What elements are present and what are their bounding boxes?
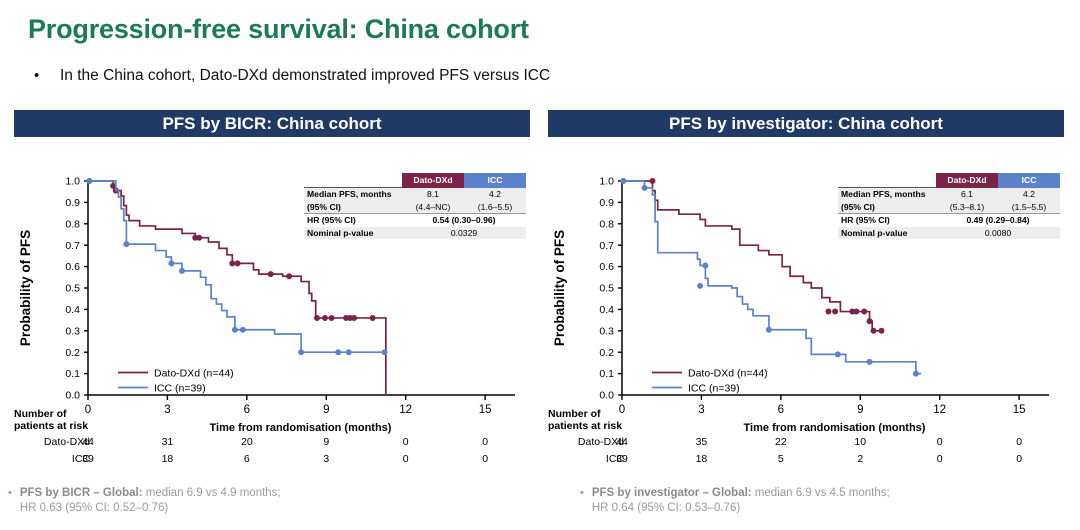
y-tick-label: 0.6 — [599, 261, 614, 273]
panel-banner-bicr: PFS by BICR: China cohort — [14, 110, 530, 137]
median-dato: 8.1 — [402, 188, 464, 201]
panel-body: 1.00.90.80.70.60.50.40.30.20.10.00369121… — [14, 137, 530, 437]
risk-table-investigator: Number ofpatients at riskDato-DXd4435221… — [548, 402, 1064, 482]
censor-marker — [642, 185, 647, 190]
row-label-median: Median PFS, months — [304, 188, 402, 201]
censor-marker — [314, 315, 319, 320]
censor-marker — [382, 350, 387, 355]
censor-marker — [169, 261, 174, 266]
row-label-ci: (95% CI) — [304, 201, 402, 214]
y-tick-label: 0.3 — [65, 325, 80, 337]
ci-dato: (5.3–8.1) — [936, 201, 998, 214]
y-tick-label: 0.7 — [599, 240, 614, 252]
risk-cell: 31 — [152, 436, 182, 448]
y-tick-label: 0.1 — [599, 368, 614, 380]
risk-cell: 44 — [607, 436, 637, 448]
header-icc: ICC — [464, 173, 526, 188]
risk-cell: 3 — [311, 453, 341, 465]
censor-marker — [867, 318, 872, 323]
intro-bullet: • In the China cohort, Dato-DXd demonstr… — [34, 66, 550, 86]
censor-marker — [697, 283, 702, 288]
censor-marker — [650, 178, 655, 183]
bullet-marker-icon: • — [34, 66, 60, 86]
footnote-line1: median 6.9 vs 4.5 months; — [752, 487, 890, 499]
hr-value: 0.49 (0.29–0.84) — [936, 214, 1060, 227]
header-blank — [838, 173, 936, 188]
y-tick-label: 0.7 — [65, 240, 80, 252]
risk-cell: 2 — [845, 453, 875, 465]
median-icc: 4.2 — [464, 188, 526, 201]
stats-table-bicr: Dato-DXdICCMedian PFS, months8.14.2(95% … — [304, 173, 526, 239]
legend-label: Dato-DXd (n=44) — [688, 367, 768, 379]
row-label-hr: HR (95% CI) — [838, 214, 936, 227]
y-tick-label: 0.1 — [65, 368, 80, 380]
row-label-pvalue: Nominal p-value — [304, 227, 402, 240]
footnote-2: •PFS by investigator – Global: median 6.… — [580, 486, 1050, 516]
panel-banner-investigator: PFS by investigator: China cohort — [548, 110, 1064, 137]
footnote-1: •PFS by BICR – Global: median 6.9 vs 4.9… — [8, 486, 478, 516]
censor-marker — [329, 315, 334, 320]
table-row: Median PFS, months6.14.2 — [838, 188, 1060, 201]
footnote-line2: HR 0.64 (95% CI: 0.53–0.76) — [592, 502, 740, 514]
chart-panel-investigator: PFS by investigator: China cohort1.00.90… — [548, 110, 1064, 437]
y-axis-label: Probability of PFS — [552, 230, 567, 346]
risk-cell: 0 — [1004, 453, 1034, 465]
censor-marker — [826, 309, 831, 314]
panel-body: 1.00.90.80.70.60.50.40.30.20.10.00369121… — [548, 137, 1064, 437]
y-tick-label: 0.2 — [65, 347, 80, 359]
header-dato: Dato-DXd — [402, 173, 464, 188]
pvalue: 0.0080 — [936, 227, 1060, 240]
censor-marker — [298, 350, 303, 355]
ci-icc: (1.6–5.5) — [464, 201, 526, 214]
stats-table-investigator: Dato-DXdICCMedian PFS, months6.14.2(95% … — [838, 173, 1060, 239]
censor-marker — [124, 241, 129, 246]
risk-cell: 18 — [686, 453, 716, 465]
y-tick-label: 0.0 — [65, 390, 80, 402]
censor-marker — [871, 328, 876, 333]
censor-marker — [287, 274, 292, 279]
censor-marker — [766, 327, 771, 332]
footnote-line2: HR 0.63 (95% CI: 0.52–0.76) — [20, 502, 168, 514]
censor-marker — [854, 309, 859, 314]
page-title: Progression-free survival: China cohort — [28, 14, 529, 45]
y-tick-label: 0.6 — [65, 261, 80, 273]
risk-cell: 20 — [232, 436, 262, 448]
table-row: (95% CI)(5.3–8.1)(1.5–5.5) — [838, 201, 1060, 214]
y-tick-label: 0.0 — [599, 390, 614, 402]
risk-cell: 6 — [232, 453, 262, 465]
risk-cell: 0 — [470, 453, 500, 465]
risk-table-bicr: Number ofpatients at riskDato-DXd4431209… — [14, 402, 530, 482]
risk-cell: 5 — [766, 453, 796, 465]
table-row: Median PFS, months8.14.2 — [304, 188, 526, 201]
y-tick-label: 0.3 — [599, 325, 614, 337]
censor-marker — [232, 327, 237, 332]
risk-table-title: Number ofpatients at risk — [14, 408, 88, 432]
censor-marker — [351, 315, 356, 320]
censor-marker — [832, 309, 837, 314]
censor-marker — [879, 328, 884, 333]
table-row: HR (95% CI)0.54 (0.30–0.96) — [304, 214, 526, 227]
table-row: HR (95% CI)0.49 (0.29–0.84) — [838, 214, 1060, 227]
risk-cell: 10 — [845, 436, 875, 448]
censor-marker — [703, 263, 708, 268]
footnote-lead: PFS by BICR – Global: — [20, 487, 143, 499]
footnote-text: PFS by BICR – Global: median 6.9 vs 4.9 … — [20, 486, 281, 516]
risk-cell: 9 — [311, 436, 341, 448]
ci-dato: (4.4–NC) — [402, 201, 464, 214]
risk-cell: 44 — [73, 436, 103, 448]
risk-cell: 39 — [73, 453, 103, 465]
table-row: Nominal p-value0.0329 — [304, 227, 526, 240]
risk-cell: 0 — [470, 436, 500, 448]
censor-marker — [179, 268, 184, 273]
chart-panel-bicr: PFS by BICR: China cohort1.00.90.80.70.6… — [14, 110, 530, 437]
median-dato: 6.1 — [936, 188, 998, 201]
legend-label: ICC (n=39) — [688, 382, 740, 394]
legend-label: Dato-DXd (n=44) — [154, 367, 234, 379]
risk-cell: 0 — [1004, 436, 1034, 448]
risk-cell: 0 — [925, 436, 955, 448]
y-tick-label: 1.0 — [599, 176, 614, 188]
risk-cell: 0 — [391, 453, 421, 465]
censor-marker — [862, 309, 867, 314]
censor-marker — [346, 350, 351, 355]
row-label-hr: HR (95% CI) — [304, 214, 402, 227]
censor-marker — [913, 371, 918, 376]
footnote-bullet-icon: • — [8, 486, 12, 516]
table-row: (95% CI)(4.4–NC)(1.6–5.5) — [304, 201, 526, 214]
censor-marker — [235, 261, 240, 266]
y-tick-label: 0.5 — [65, 283, 80, 295]
header-dato: Dato-DXd — [936, 173, 998, 188]
y-tick-label: 0.8 — [599, 218, 614, 230]
y-tick-label: 0.5 — [599, 283, 614, 295]
row-label-pvalue: Nominal p-value — [838, 227, 936, 240]
censor-marker — [335, 350, 340, 355]
censor-marker — [87, 178, 92, 183]
y-tick-label: 0.4 — [65, 304, 80, 316]
table-header-row: Dato-DXdICC — [838, 173, 1060, 188]
risk-cell: 35 — [686, 436, 716, 448]
y-axis-label: Probability of PFS — [18, 230, 33, 346]
footnote-lead: PFS by investigator – Global: — [592, 487, 752, 499]
header-blank — [304, 173, 402, 188]
hr-value: 0.54 (0.30–0.96) — [402, 214, 526, 227]
table-header-row: Dato-DXdICC — [304, 173, 526, 188]
table-row: Nominal p-value0.0080 — [838, 227, 1060, 240]
censor-marker — [322, 315, 327, 320]
censor-marker — [240, 327, 245, 332]
footnote-text: PFS by investigator – Global: median 6.9… — [592, 486, 890, 516]
y-tick-label: 0.9 — [65, 197, 80, 209]
footnote-line1: median 6.9 vs 4.9 months; — [143, 487, 281, 499]
censor-marker — [230, 261, 235, 266]
legend-label: ICC (n=39) — [154, 382, 206, 394]
censor-marker — [370, 315, 375, 320]
censor-marker — [835, 352, 840, 357]
ci-icc: (1.5–5.5) — [998, 201, 1060, 214]
median-icc: 4.2 — [998, 188, 1060, 201]
censor-marker — [268, 271, 273, 276]
intro-bullet-text: In the China cohort, Dato-DXd demonstrat… — [60, 66, 550, 86]
risk-cell: 0 — [391, 436, 421, 448]
y-tick-label: 0.4 — [599, 304, 614, 316]
row-label-ci: (95% CI) — [838, 201, 936, 214]
censor-marker — [196, 235, 201, 240]
risk-table-title: Number ofpatients at risk — [548, 408, 622, 432]
y-tick-label: 0.9 — [599, 197, 614, 209]
risk-cell: 22 — [766, 436, 796, 448]
y-tick-label: 1.0 — [65, 176, 80, 188]
y-tick-label: 0.8 — [65, 218, 80, 230]
y-tick-label: 0.2 — [599, 347, 614, 359]
row-label-median: Median PFS, months — [838, 188, 936, 201]
risk-cell: 39 — [607, 453, 637, 465]
risk-cell: 0 — [925, 453, 955, 465]
risk-cell: 18 — [152, 453, 182, 465]
censor-marker — [621, 178, 626, 183]
footnote-bullet-icon: • — [580, 486, 584, 516]
pvalue: 0.0329 — [402, 227, 526, 240]
header-icc: ICC — [998, 173, 1060, 188]
censor-marker — [867, 359, 872, 364]
